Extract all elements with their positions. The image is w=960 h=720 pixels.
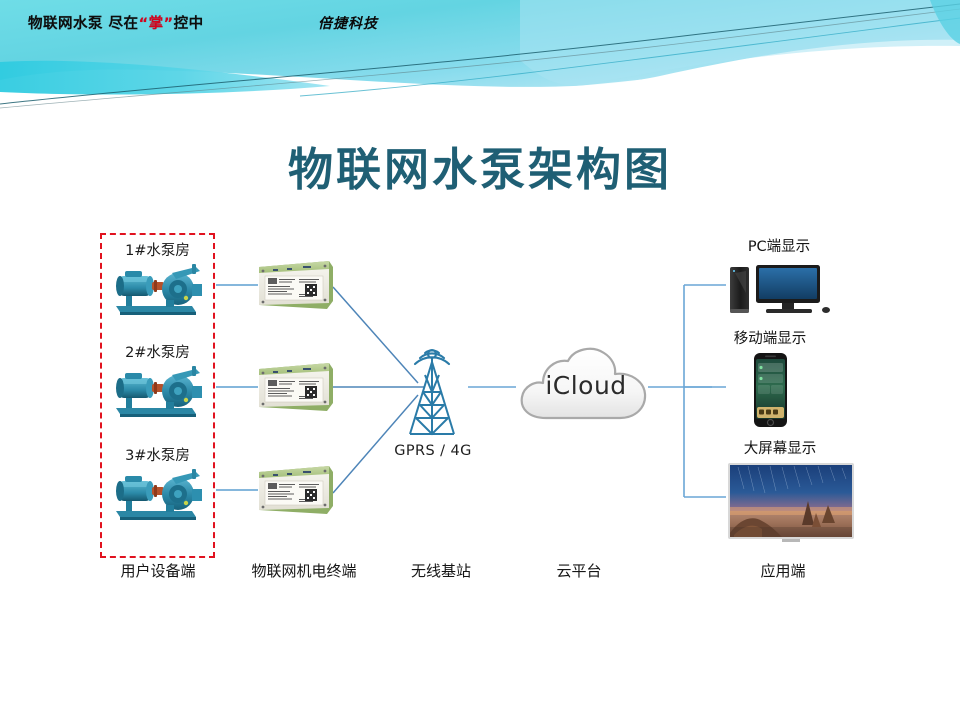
pump-room-3[interactable]: 3#水泵房 [100,444,215,523]
app-mobile-display-label: 移动端显示 [710,327,830,348]
header-quote-open: “ [139,16,149,32]
water-pump-icon [108,364,208,420]
cell-tower-icon [390,330,474,448]
app-large-screen-display-label: 大屏幕显示 [700,437,860,458]
smartphone-icon [710,351,830,429]
large-screen-display-icon [704,461,856,543]
pump-room-2[interactable]: 2#水泵房 [100,341,215,420]
slide-canvas: 物联网水泵 尽在“掌”控中 倍捷科技 物联网水泵架构图 [0,0,960,720]
desktop-computer-icon [726,259,832,317]
category-application: 应用端 [745,560,821,581]
header-slogan-suffix: 控中 [174,16,204,32]
header-quote-close: ” [164,16,174,32]
pump-room-2-label: 2#水泵房 [100,341,215,362]
header-slogan-highlight: 掌 [149,16,164,32]
category-iot-terminal: 物联网机电终端 [232,560,376,581]
cloud-icon [512,340,660,440]
base-station[interactable] [390,330,474,452]
brand-logo: 倍捷科技 [318,13,378,33]
app-large-screen-display[interactable]: 大屏幕显示 [700,437,860,543]
app-mobile-display[interactable]: 移动端显示 [710,327,830,429]
category-user-device: 用户设备端 [108,560,208,581]
iot-gateway-1[interactable] [257,259,333,311]
water-pump-icon [108,467,208,523]
architecture-diagram: 1#水泵房 [0,215,960,605]
app-pc-display[interactable]: PC端显示 [726,235,832,321]
iot-gateway-2[interactable] [257,361,333,413]
iot-gateway-device-icon [257,464,333,516]
pump-room-3-label: 3#水泵房 [100,444,215,465]
iot-gateway-device-icon [257,259,333,311]
pump-room-1[interactable]: 1#水泵房 [100,239,215,318]
header-slogan-prefix: 物联网水泵 尽在 [28,16,139,32]
category-base-station: 无线基站 [396,560,486,581]
header-slogan: 物联网水泵 尽在“掌”控中 [28,12,204,33]
page-title: 物联网水泵架构图 [0,133,960,198]
pump-room-1-label: 1#水泵房 [100,239,215,260]
water-pump-icon [108,262,208,318]
base-station-label: GPRS / 4G [373,443,493,459]
cloud-platform[interactable] [512,340,660,444]
iot-gateway-3[interactable] [257,464,333,516]
iot-gateway-device-icon [257,361,333,413]
app-pc-display-label: PC端显示 [726,235,832,256]
category-cloud-platform: 云平台 [541,560,617,581]
